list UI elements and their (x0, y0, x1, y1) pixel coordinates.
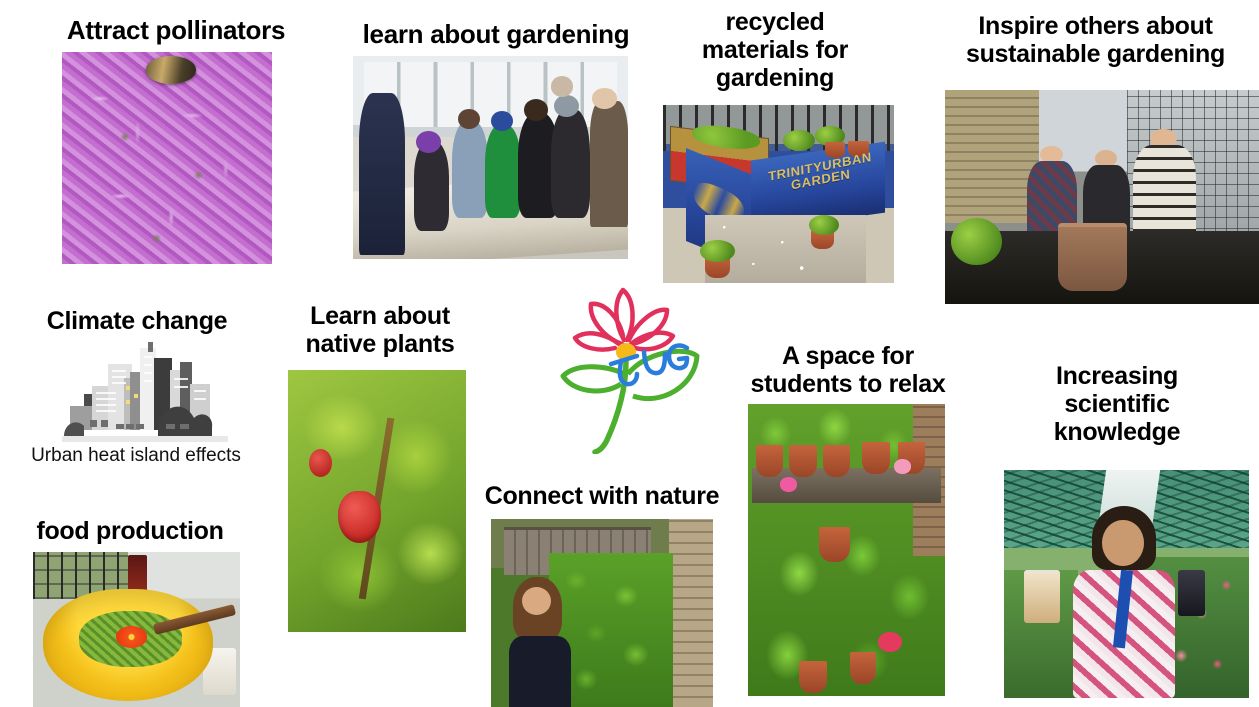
photo-woman-in-garden (491, 519, 713, 707)
potted-plant-wall-photo (748, 404, 945, 696)
caption-a-space-to-relax: A space for students to relax (722, 342, 974, 398)
woman-in-garden-photo (491, 519, 713, 707)
garden-brick-wall (669, 519, 713, 707)
caption-learn-native-plants: Learn about native plants (288, 302, 472, 358)
salad-bowl-photo (33, 552, 240, 707)
caption-connect-with-nature: Connect with nature (468, 482, 736, 510)
three-gardeners-photo (945, 90, 1259, 304)
photo-trinity-urban-garden: TRINITYURBAN GARDEN (663, 105, 894, 283)
greenhouse-scientist-photo (1004, 470, 1249, 698)
photo-potted-plant-wall (748, 404, 945, 696)
subcaption-urban-heat-island: Urban heat island effects (6, 446, 266, 467)
tug-flower-logo (545, 282, 705, 454)
city-skyline-icon (62, 340, 228, 452)
caption-inspire-others: Inspire others about sustainable gardeni… (938, 12, 1253, 68)
nasturtium-flower (116, 626, 147, 648)
photo-wild-strawberry (288, 370, 466, 632)
photo-gardening-workshop (353, 56, 628, 259)
photo-greenhouse-scientist (1004, 470, 1249, 698)
gardening-workshop-photo (353, 56, 628, 259)
trinity-urban-garden-photo: TRINITYURBAN GARDEN (663, 105, 894, 283)
photo-salad-bowl (33, 552, 240, 707)
wild-strawberry-photo (288, 370, 466, 632)
large-plant-pot (1058, 223, 1127, 291)
caption-learn-about-gardening: learn about gardening (348, 20, 644, 49)
caption-recycled-materials: recycled materials for gardening (664, 8, 886, 92)
photo-allium-bee (62, 52, 272, 264)
caption-attract-pollinators: Attract pollinators (48, 16, 304, 45)
caption-food-production: food production (18, 517, 242, 545)
collage-board: Attract pollinators learn about gardenin… (0, 0, 1259, 707)
photo-three-gardeners (945, 90, 1259, 304)
caption-increasing-science: Increasing scientific knowledge (1028, 362, 1206, 446)
allium-bee-photo (62, 52, 272, 264)
brick-wall (945, 90, 1039, 223)
caption-climate-change: Climate change (20, 307, 254, 335)
salad-bottle (128, 555, 147, 592)
